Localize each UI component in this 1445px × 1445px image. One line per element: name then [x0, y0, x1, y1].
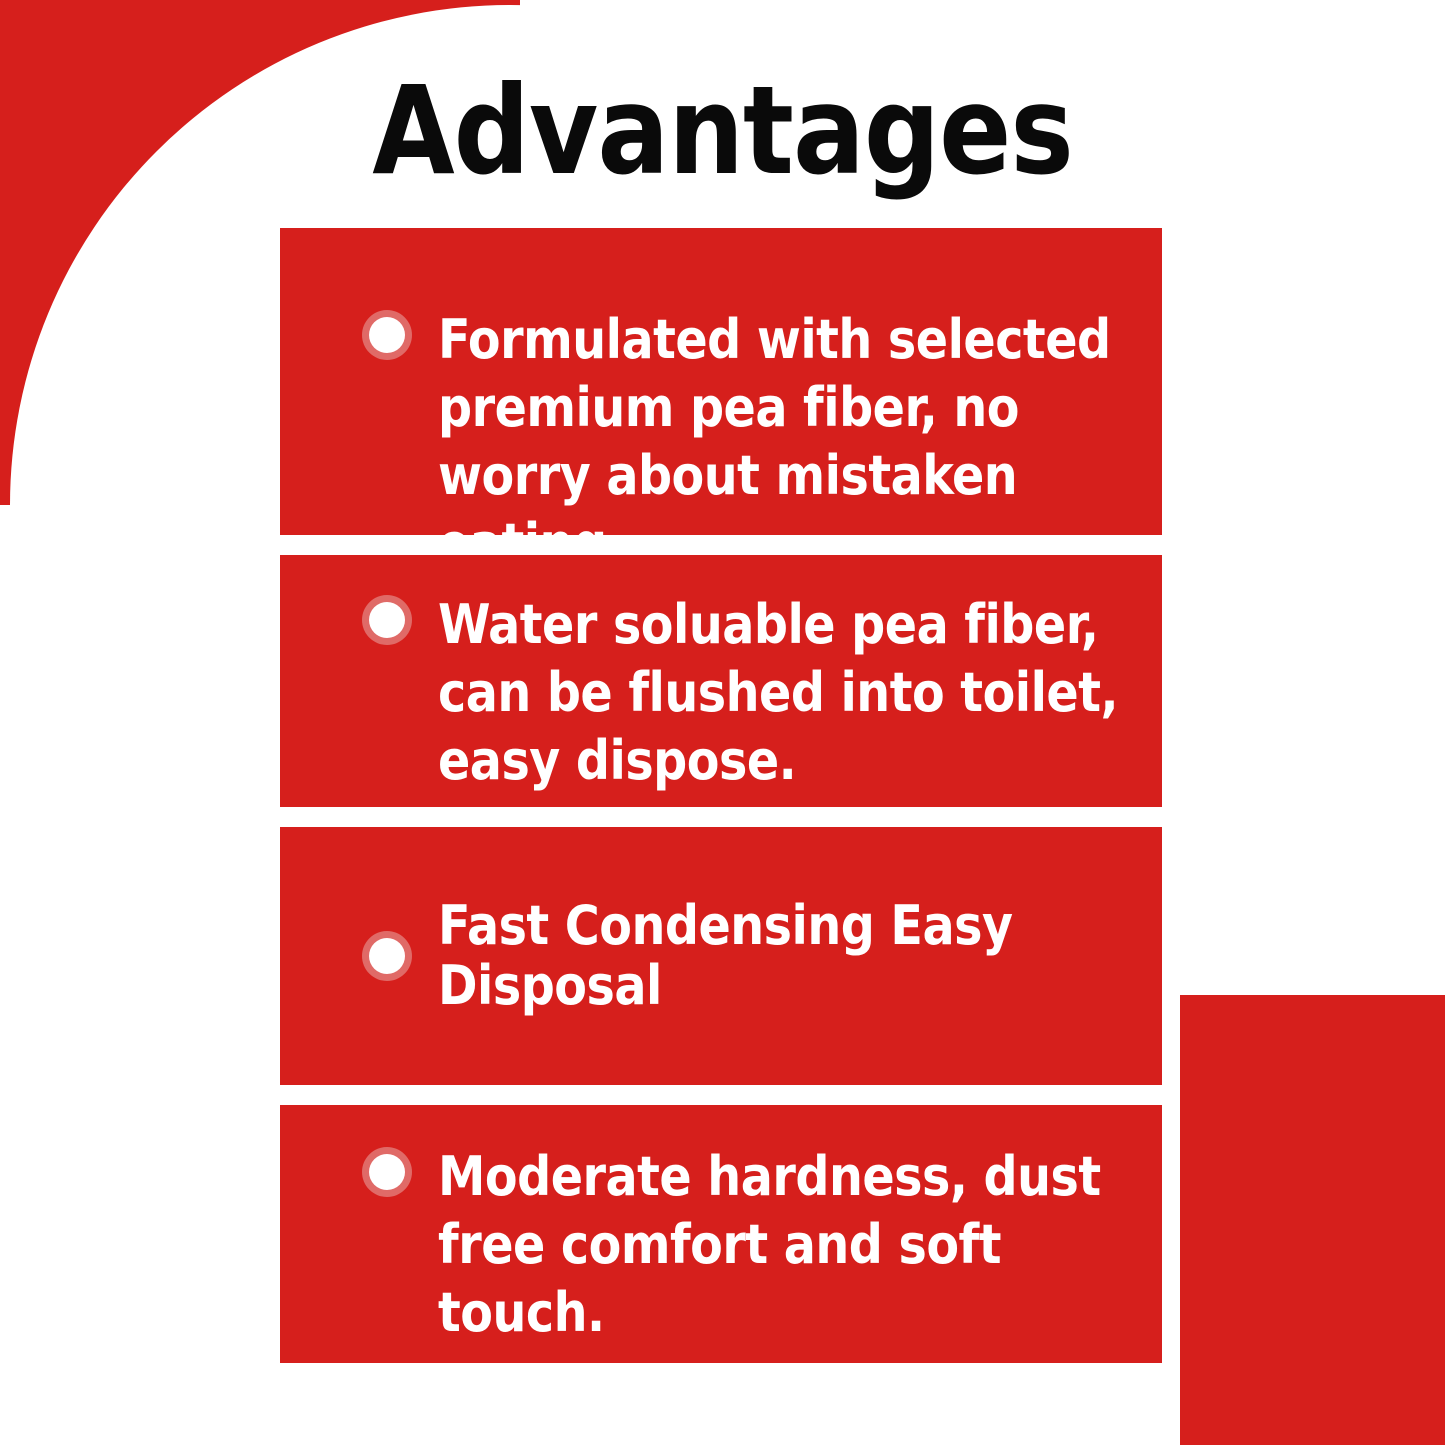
advantages-infographic: Advantages Formulated with selected prem…: [0, 0, 1445, 1445]
bullet-dot: [369, 317, 405, 353]
advantage-text-2: Water soluable pea fiber, can be flushed…: [438, 591, 1124, 795]
page-title: Advantages: [22, 70, 1424, 192]
circle-bullet-icon: [362, 1147, 412, 1197]
circle-bullet-icon: [362, 931, 412, 981]
advantage-text-3: Fast Condensing Easy Disposal: [438, 896, 1124, 1016]
advantage-text-4: Moderate hardness, dust free comfort and…: [438, 1143, 1124, 1347]
circle-bullet-icon: [362, 310, 412, 360]
circle-bullet-icon: [362, 595, 412, 645]
advantages-list: Formulated with selected premium pea fib…: [280, 228, 1162, 1383]
bullet-dot: [369, 1154, 405, 1190]
advantage-item-1: Formulated with selected premium pea fib…: [280, 228, 1162, 535]
bullet-dot: [369, 938, 405, 974]
bottom-right-arc-decoration: [1180, 995, 1445, 1445]
advantage-text-1: Formulated with selected premium pea fib…: [438, 306, 1124, 578]
advantage-item-2: Water soluable pea fiber, can be flushed…: [280, 555, 1162, 807]
bullet-dot: [369, 602, 405, 638]
advantage-item-3: Fast Condensing Easy Disposal: [280, 827, 1162, 1085]
advantage-item-4: Moderate hardness, dust free comfort and…: [280, 1105, 1162, 1363]
